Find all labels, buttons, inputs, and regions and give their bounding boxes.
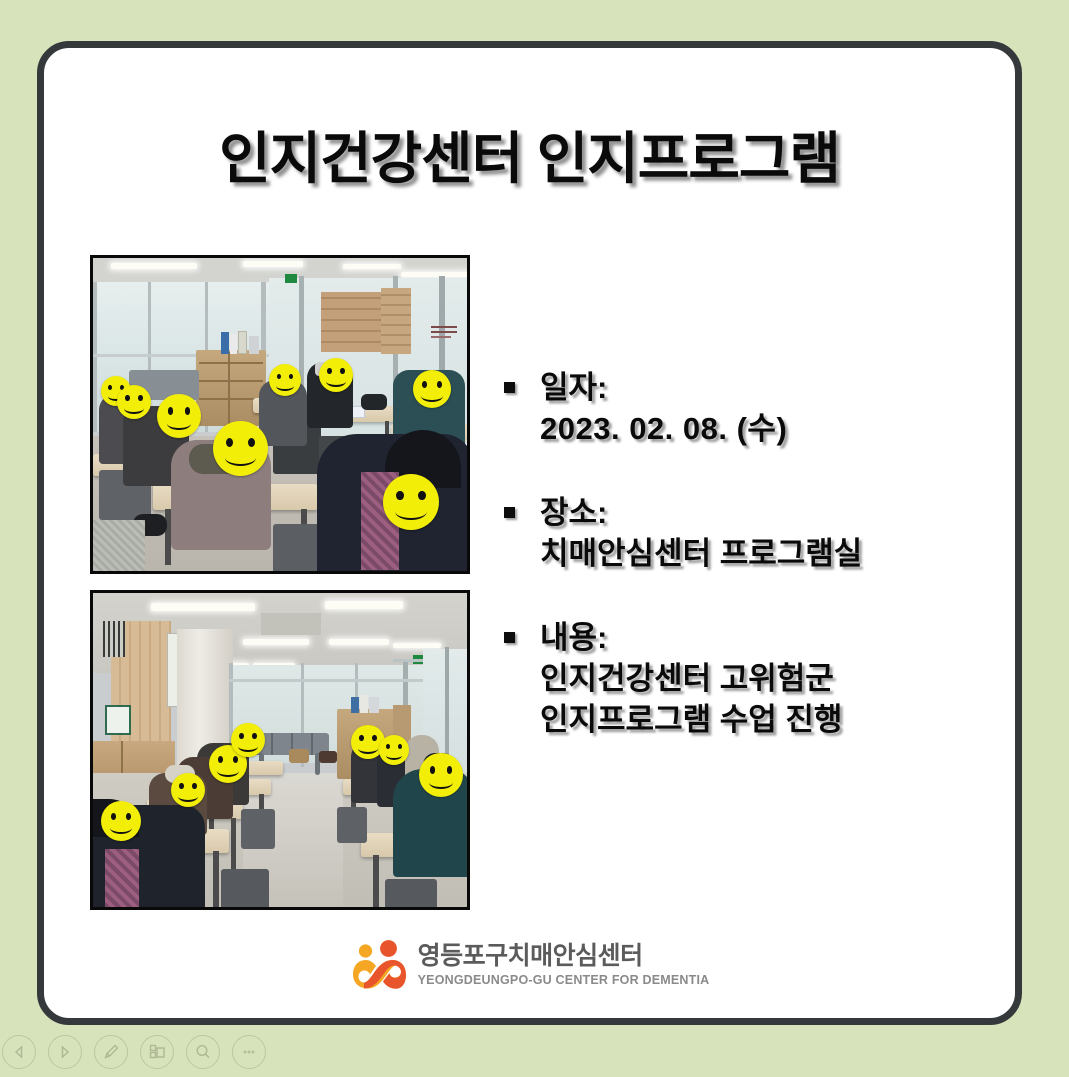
logo-title-ko: 영등포구치매안심센터: [418, 943, 643, 971]
face-cover-smiley: [157, 394, 201, 438]
slide-card: 인지건강센터 인지프로그램: [37, 41, 1022, 1025]
pen-icon: [102, 1043, 120, 1061]
photo-scene: [93, 258, 467, 571]
detail-value-place: 치매안심센터 프로그램실: [540, 534, 992, 574]
detail-value-line: 치매안심센터 프로그램실: [540, 534, 992, 574]
face-cover-smiley: [213, 421, 268, 476]
bullet-square-icon: [504, 507, 515, 518]
face-cover-smiley: [101, 801, 141, 841]
organization-logo: 영등포구치매안심센터 YEONGDEUNGPO-GU CENTER FOR DE…: [44, 938, 1015, 992]
bullet-square-icon: [504, 382, 515, 393]
detail-label-date: 일자:: [540, 368, 992, 409]
detail-value-line: 인지건강센터 고위험군: [540, 659, 992, 699]
face-cover-smiley: [419, 753, 463, 797]
two-figures-embrace-icon: [350, 938, 406, 992]
thumbnail-grid-icon: [148, 1043, 166, 1061]
classroom-photo-front: [90, 255, 470, 574]
page-title: 인지건강센터 인지프로그램: [44, 128, 1015, 190]
draw-button[interactable]: [94, 1035, 128, 1069]
detail-item-content: 내용: 인지건강센터 고위험군 인지프로그램 수업 진행: [502, 618, 992, 740]
detail-label-content: 내용:: [540, 618, 992, 659]
face-cover-smiley: [379, 735, 409, 765]
face-cover-smiley: [231, 723, 265, 757]
detail-item-place: 장소: 치매안심센터 프로그램실: [502, 493, 992, 574]
detail-item-date: 일자: 2023. 02. 08. (수): [502, 368, 992, 449]
photo-scene: [93, 593, 467, 907]
layout-button[interactable]: [140, 1035, 174, 1069]
details-list: 일자: 2023. 02. 08. (수) 장소: 치매안심센터 프로그램실 내…: [502, 368, 992, 740]
triangle-right-icon: [57, 1044, 73, 1060]
face-cover-smiley: [413, 370, 451, 408]
logo-title-en: YEONGDEUNGPO-GU CENTER FOR DEMENTIA: [418, 973, 710, 987]
classroom-photo-wide: [90, 590, 470, 910]
face-cover-smiley: [269, 364, 301, 396]
triangle-left-icon: [11, 1044, 27, 1060]
detail-value-line: 인지프로그램 수업 진행: [540, 700, 992, 740]
zoom-button[interactable]: [186, 1035, 220, 1069]
face-cover-smiley: [171, 773, 205, 807]
face-cover-smiley: [117, 385, 151, 419]
viewer-toolbar: [0, 1027, 1069, 1077]
logo-text: 영등포구치매안심센터 YEONGDEUNGPO-GU CENTER FOR DE…: [418, 943, 710, 988]
detail-value-line: 2023. 02. 08. (수): [540, 409, 992, 449]
next-button[interactable]: [48, 1035, 82, 1069]
face-cover-smiley: [319, 358, 353, 392]
detail-value-date: 2023. 02. 08. (수): [540, 409, 992, 449]
ellipsis-icon: [240, 1043, 258, 1061]
face-cover-smiley: [383, 474, 439, 530]
detail-value-content: 인지건강센터 고위험군 인지프로그램 수업 진행: [540, 659, 992, 740]
previous-button[interactable]: [2, 1035, 36, 1069]
magnifier-icon: [194, 1043, 212, 1061]
more-button[interactable]: [232, 1035, 266, 1069]
detail-label-place: 장소:: [540, 493, 992, 534]
bullet-square-icon: [504, 632, 515, 643]
